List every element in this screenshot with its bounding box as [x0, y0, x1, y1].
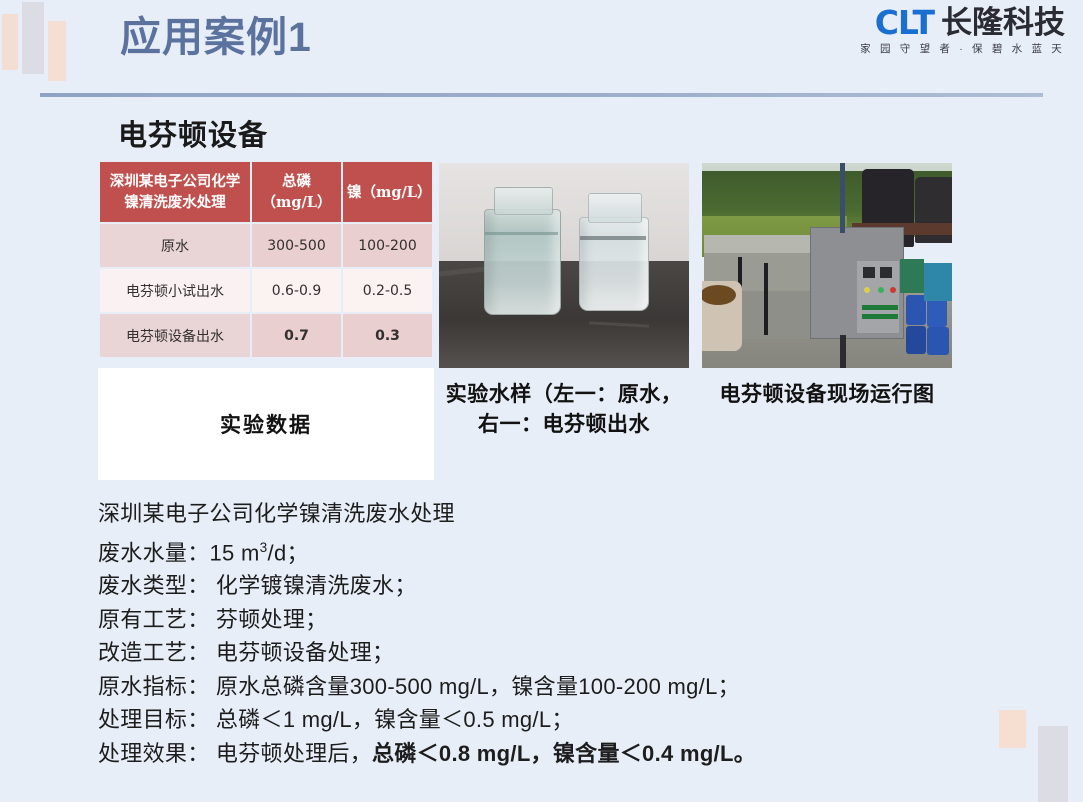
desc-water-volume-tail: /d；	[268, 540, 309, 565]
chemical-drum	[927, 297, 947, 327]
table-caption-text: 实验数据	[220, 409, 312, 439]
jar-raw-water	[484, 209, 561, 315]
desc-line-water-type: 废水类型： 化学镀镍清洗废水；	[98, 569, 1058, 603]
row-total-phosphorus: 300-500	[252, 224, 341, 267]
page-title: 应用案例1	[120, 14, 312, 61]
photo-water-samples	[439, 163, 689, 368]
decor-bar-top-left-3	[48, 21, 66, 81]
table-header-company: 深圳某电子公司化学镍清洗废水处理	[100, 162, 250, 222]
panel-switch-row	[862, 314, 898, 319]
header-divider	[40, 93, 1043, 97]
photo-table-surface	[439, 261, 689, 368]
jar-treated-water-neck	[588, 193, 642, 223]
photo-wall-background	[439, 163, 689, 261]
desc-effect-highlight: 总磷＜0.8 mg/L，镍含量＜0.4 mg/L。	[372, 741, 756, 766]
panel-meter	[863, 267, 875, 278]
photo-equipment-site	[702, 163, 952, 368]
table-header-total-phosphorus: 总磷（mg/L）	[252, 162, 341, 222]
panel-indicator-light	[890, 287, 896, 293]
row-nickel: 0.3	[343, 314, 432, 357]
decor-bar-top-left-1	[2, 14, 18, 70]
table-caption-panel: 实验数据	[98, 368, 434, 480]
desc-line-title: 深圳某电子公司化学镍清洗废水处理	[98, 497, 1058, 531]
row-label: 原水	[100, 224, 250, 267]
photo-samples-caption: 实验水样（左一：原水，右一：电芬顿出水	[439, 380, 689, 440]
chemical-drum	[906, 295, 926, 325]
logo-wordmark: CLT 长隆科技	[860, 6, 1065, 39]
table-row: 电芬顿小试出水 0.6-0.9 0.2-0.5	[100, 269, 432, 312]
table-body: 原水 300-500 100-200 电芬顿小试出水 0.6-0.9 0.2-0…	[100, 224, 432, 357]
chemical-drum	[927, 327, 949, 355]
chemical-drum	[906, 326, 926, 354]
panel-indicator-light	[864, 287, 870, 293]
decor-bar-top-left-2	[22, 2, 44, 74]
discharge-pipe	[840, 335, 846, 368]
panel-meter	[880, 267, 892, 278]
panel-indicator-light	[878, 287, 884, 293]
table-head: 深圳某电子公司化学镍清洗废水处理 总磷（mg/L） 镍（mg/L）	[100, 162, 432, 222]
desc-water-volume-prefix: 废水水量：	[98, 540, 210, 565]
slide-root: 应用案例1 CLT 长隆科技 家 园 守 望 者 · 保 碧 水 蓝 天 电芬顿…	[0, 0, 1083, 802]
logo-chinese-text: 长隆科技	[941, 7, 1065, 38]
desc-line-raw-water-index: 原水指标： 原水总磷含量300-500 mg/L，镍含量100-200 mg/L…	[98, 670, 1058, 704]
desc-line-new-process: 改造工艺： 电芬顿设备处理；	[98, 636, 1058, 670]
jar-raw-water-level	[485, 232, 558, 235]
jar-treated-water	[579, 217, 649, 311]
row-label: 电芬顿小试出水	[100, 269, 250, 312]
photo-site-caption: 电芬顿设备现场运行图	[702, 380, 952, 410]
vertical-pipe	[840, 163, 845, 233]
table-row: 电芬顿设备出水 0.7 0.3	[100, 314, 432, 357]
row-label: 电芬顿设备出水	[100, 314, 250, 357]
jar-treated-water-level	[580, 236, 646, 240]
section-title: 电芬顿设备	[118, 112, 268, 154]
desc-line-old-process: 原有工艺： 芬顿处理；	[98, 603, 1058, 637]
cable-run	[764, 263, 768, 335]
desc-effect-prefix: 处理效果： 电芬顿处理后，	[98, 741, 372, 766]
panel-switch-row	[862, 305, 898, 310]
row-total-phosphorus: 0.7	[252, 314, 341, 357]
desc-line-treatment-goal: 处理目标： 总磷＜1 mg/L，镍含量＜0.5 mg/L；	[98, 703, 1058, 737]
desc-water-volume-unit: m	[235, 540, 260, 565]
side-container-blue	[924, 263, 952, 301]
experiment-data-table: 深圳某电子公司化学镍清洗废水处理 总磷（mg/L） 镍（mg/L） 原水 300…	[98, 160, 434, 359]
logo-tagline: 家 园 守 望 者 · 保 碧 水 蓝 天	[860, 44, 1065, 55]
table-header-nickel: 镍（mg/L）	[343, 162, 432, 222]
table-header-row: 深圳某电子公司化学镍清洗废水处理 总磷（mg/L） 镍（mg/L）	[100, 162, 432, 222]
desc-water-volume-exponent: 3	[260, 540, 268, 555]
jar-raw-water-neck	[494, 187, 553, 215]
logo-latin-text: CLT	[875, 6, 934, 39]
table-row: 原水 300-500 100-200	[100, 224, 432, 267]
row-nickel: 0.2-0.5	[343, 269, 432, 312]
row-nickel: 100-200	[343, 224, 432, 267]
side-container-green	[900, 259, 924, 293]
desc-line-treatment-effect: 处理效果： 电芬顿处理后，总磷＜0.8 mg/L，镍含量＜0.4 mg/L。	[98, 737, 1058, 771]
case-description: 深圳某电子公司化学镍清洗废水处理 废水水量：15 m3/d； 废水类型： 化学镀…	[98, 497, 1058, 770]
desc-line-water-volume: 废水水量：15 m3/d；	[98, 531, 1058, 570]
row-total-phosphorus: 0.6-0.9	[252, 269, 341, 312]
company-logo: CLT 长隆科技 家 园 守 望 者 · 保 碧 水 蓝 天	[860, 6, 1065, 55]
desc-water-volume-value: 15	[210, 540, 235, 565]
